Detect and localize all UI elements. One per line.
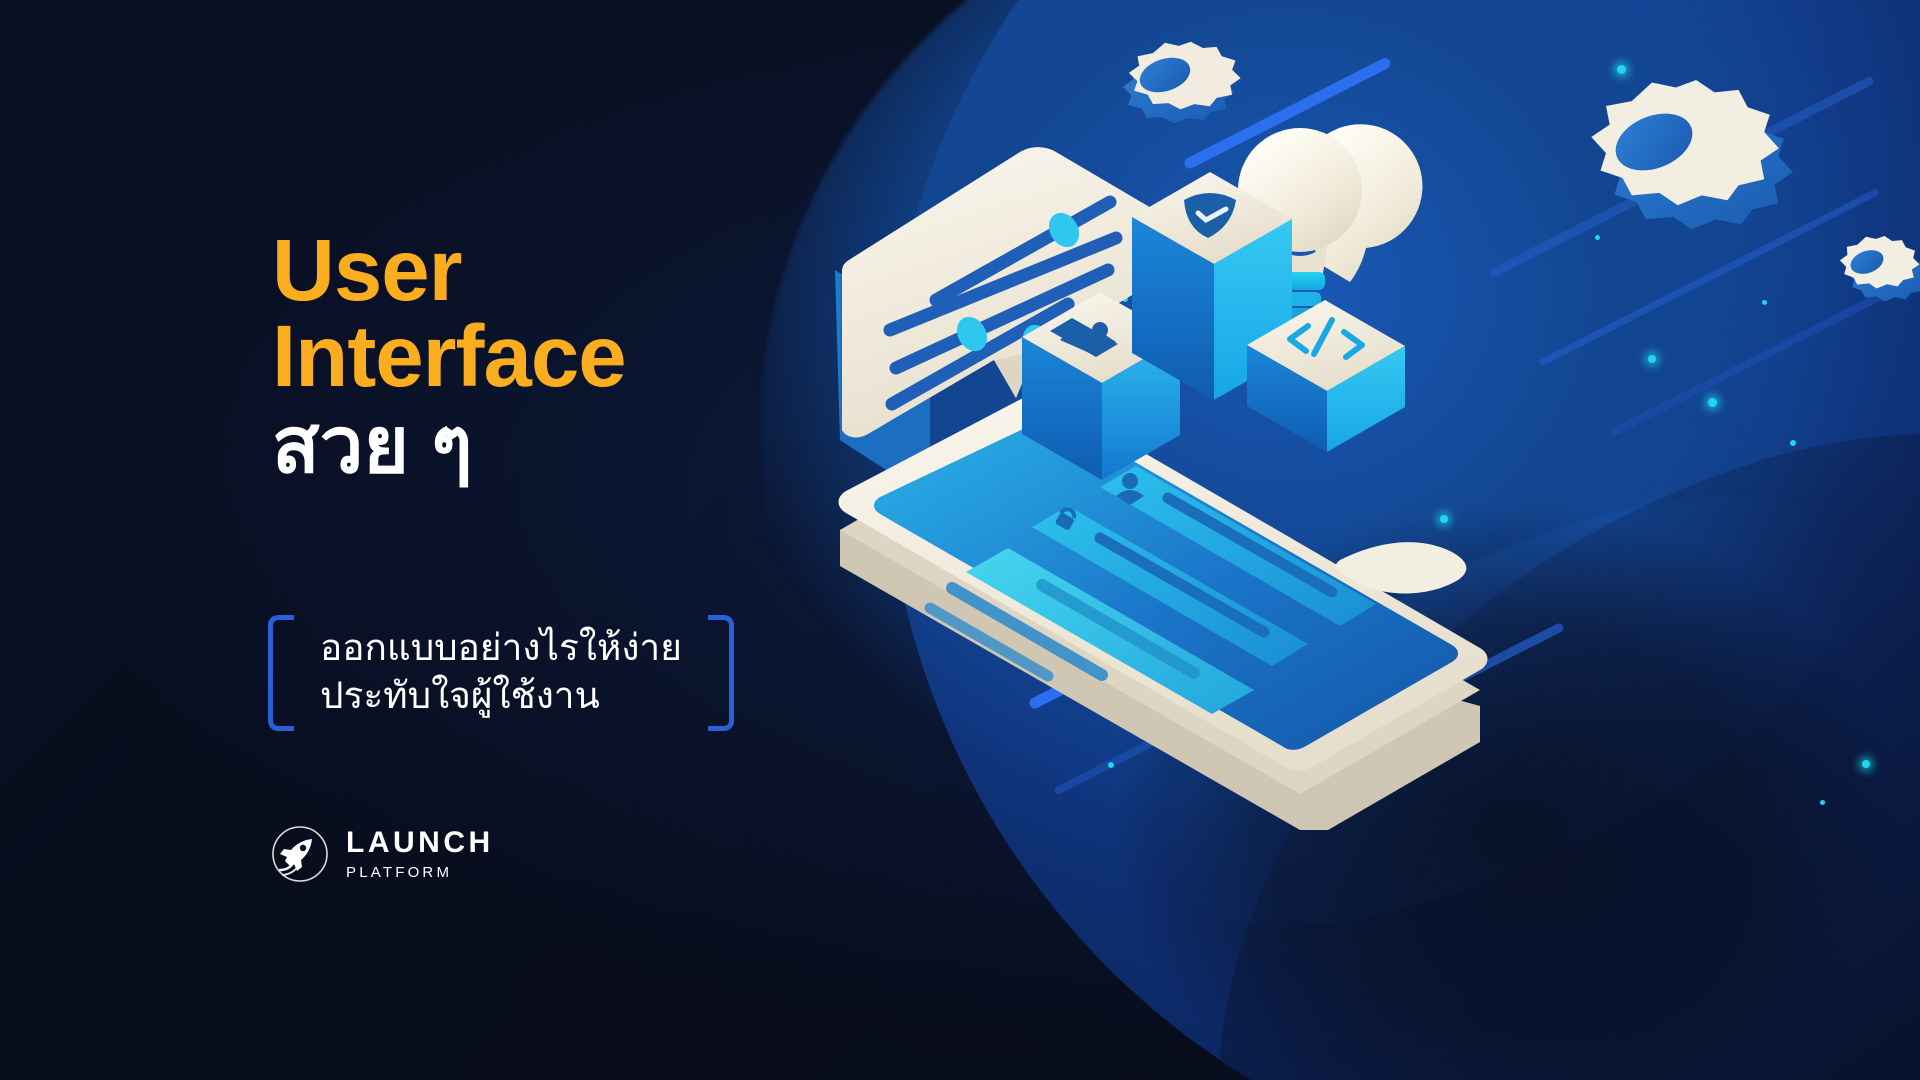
bracket-left-icon bbox=[268, 615, 294, 731]
banner-canvas: User Interface สวย ๆ ออกแบบอย่างไรให้ง่า… bbox=[0, 0, 1920, 1080]
logo-wordmark: LAUNCH PLATFORM bbox=[346, 828, 494, 880]
headline-block: User Interface สวย ๆ bbox=[272, 228, 892, 487]
headline-thai: สวย ๆ bbox=[272, 404, 892, 487]
subtitle-line-2: ประทับใจผู้ใช้งาน bbox=[320, 672, 682, 720]
gear-icon bbox=[1123, 42, 1241, 124]
brand-logo[interactable]: LAUNCH PLATFORM bbox=[268, 822, 494, 886]
phone-icon bbox=[839, 394, 1488, 830]
gear-icon bbox=[1840, 236, 1920, 302]
headline-line-2: Interface bbox=[272, 314, 892, 400]
logo-name: LAUNCH bbox=[346, 828, 494, 858]
subtitle-block: ออกแบบอย่างไรให้ง่าย ประทับใจผู้ใช้งาน bbox=[268, 615, 734, 731]
bracket-right-icon bbox=[708, 615, 734, 731]
subtitle-text: ออกแบบอย่างไรให้ง่าย ประทับใจผู้ใช้งาน bbox=[320, 615, 682, 731]
headline-line-1: User bbox=[272, 222, 461, 319]
gear-icon bbox=[1591, 80, 1793, 229]
rocket-in-circle-icon bbox=[268, 822, 332, 886]
isometric-ui-illustration bbox=[780, 0, 1920, 1080]
logo-tagline: PLATFORM bbox=[346, 865, 494, 880]
subtitle-line-1: ออกแบบอย่างไรให้ง่าย bbox=[320, 624, 682, 672]
page-title: User Interface bbox=[272, 228, 892, 400]
